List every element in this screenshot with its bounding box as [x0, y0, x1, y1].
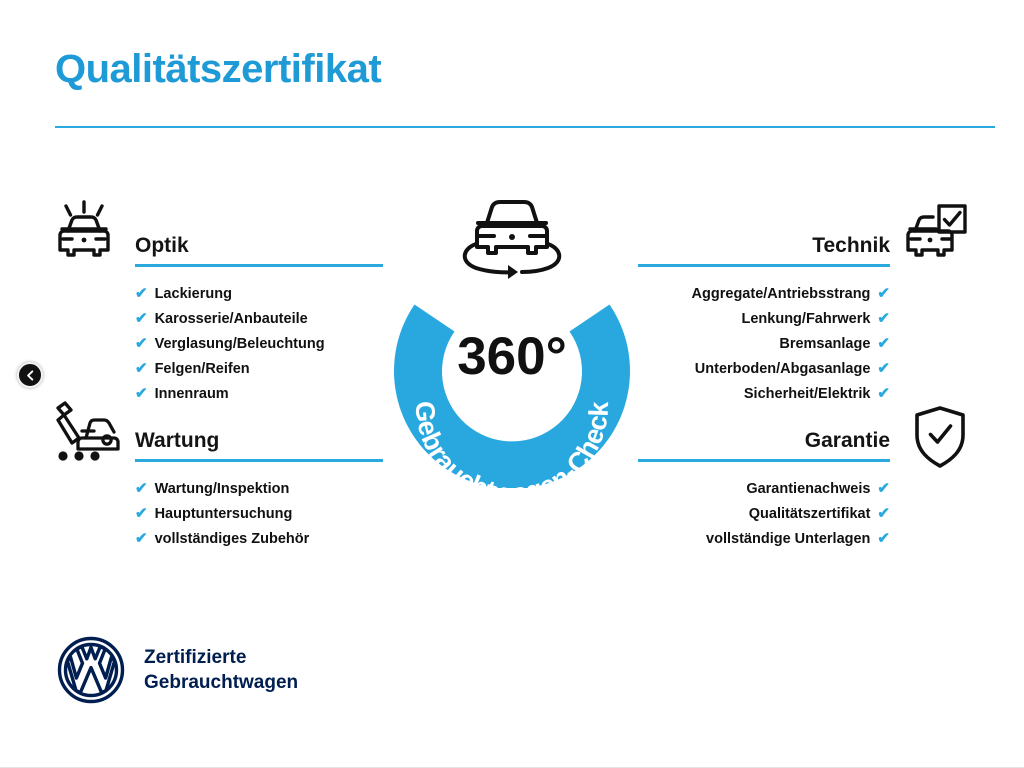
check-icon: ✔ [877, 506, 890, 521]
section-title-wartung: Wartung [135, 428, 383, 454]
footer-text: Zertifizierte Gebrauchtwagen [144, 645, 298, 695]
check-icon: ✔ [135, 531, 148, 546]
section-rule-garantie [638, 459, 890, 462]
section-title-optik: Optik [135, 233, 383, 259]
check-icon: ✔ [877, 481, 890, 496]
check-item-label: Lenkung/Fahrwerk [742, 311, 871, 327]
check-item-label: Qualitätszertifikat [749, 506, 871, 522]
list-item: Bremsanlage✔ [638, 331, 890, 356]
volkswagen-logo-icon [57, 636, 125, 704]
check-item-label: Innenraum [155, 386, 229, 402]
check-icon: ✔ [135, 386, 148, 401]
title-divider [55, 126, 995, 128]
list-item: Unterboden/Abgasanlage✔ [638, 356, 890, 381]
check-item-label: Bremsanlage [779, 336, 870, 352]
section-rule-optik [135, 264, 383, 267]
check-icon: ✔ [877, 531, 890, 546]
check-list-garantie: Garantienachweis✔Qualitätszertifikat✔vol… [638, 476, 890, 551]
car-service-tool-icon [44, 398, 124, 475]
section-title-garantie: Garantie [638, 428, 890, 454]
check-list-optik: ✔Lackierung✔Karosserie/Anbauteile✔Vergla… [135, 281, 383, 406]
check-icon: ✔ [877, 336, 890, 351]
car-checkbox-icon [903, 198, 969, 275]
check-icon: ✔ [877, 286, 890, 301]
page-title: Qualitätszertifikat [55, 47, 381, 92]
check-icon: ✔ [877, 386, 890, 401]
list-item: ✔Wartung/Inspektion [135, 476, 383, 501]
section-wartung: Wartung✔Wartung/Inspektion✔Hauptuntersuc… [135, 428, 383, 551]
check-item-label: Lackierung [155, 286, 232, 302]
list-item: ✔Lackierung [135, 281, 383, 306]
footer-line-1: Zertifizierte [144, 645, 298, 670]
footer-brand: Zertifizierte Gebrauchtwagen [57, 636, 298, 704]
section-header-wartung: Wartung [135, 428, 383, 462]
chevron-left-icon [25, 370, 36, 381]
section-header-optik: Optik [135, 233, 383, 267]
check-item-label: Sicherheit/Elektrik [744, 386, 871, 402]
check-icon: ✔ [135, 311, 148, 326]
check-item-label: Wartung/Inspektion [155, 481, 290, 497]
section-header-garantie: Garantie [638, 428, 890, 462]
check-item-label: Verglasung/Beleuchtung [155, 336, 325, 352]
list-item: ✔vollständiges Zubehör [135, 526, 383, 551]
footer-line-2: Gebrauchtwagen [144, 670, 298, 695]
check-list-technik: Aggregate/Antriebsstrang✔Lenkung/Fahrwer… [638, 281, 890, 406]
section-technik: TechnikAggregate/Antriebsstrang✔Lenkung/… [638, 233, 890, 406]
prev-image-button[interactable] [17, 362, 43, 388]
section-optik: Optik✔Lackierung✔Karosserie/Anbauteile✔V… [135, 233, 383, 406]
check-list-wartung: ✔Wartung/Inspektion✔Hauptuntersuchung✔vo… [135, 476, 383, 551]
section-title-technik: Technik [638, 233, 890, 259]
list-item: ✔Felgen/Reifen [135, 356, 383, 381]
list-item: Sicherheit/Elektrik✔ [638, 381, 890, 406]
check-item-label: vollständiges Zubehör [155, 531, 310, 547]
check-item-label: Unterboden/Abgasanlage [695, 361, 871, 377]
car-shine-icon [48, 198, 120, 275]
check-item-label: Felgen/Reifen [155, 361, 250, 377]
list-item: ✔Verglasung/Beleuchtung [135, 331, 383, 356]
section-rule-wartung [135, 459, 383, 462]
shield-check-icon [912, 404, 968, 475]
certificate-page: Qualitätszertifikat [0, 0, 1024, 768]
check-icon: ✔ [135, 286, 148, 301]
check-item-label: vollständige Unterlagen [706, 531, 870, 547]
list-item: Garantienachweis✔ [638, 476, 890, 501]
check-item-label: Garantienachweis [746, 481, 870, 497]
check-item-label: Hauptuntersuchung [155, 506, 293, 522]
check-icon: ✔ [135, 481, 148, 496]
list-item: ✔Hauptuntersuchung [135, 501, 383, 526]
section-garantie: GarantieGarantienachweis✔Qualitätszertif… [638, 428, 890, 551]
list-item: ✔Karosserie/Anbauteile [135, 306, 383, 331]
check-icon: ✔ [135, 506, 148, 521]
section-header-technik: Technik [638, 233, 890, 267]
check-item-label: Karosserie/Anbauteile [155, 311, 308, 327]
list-item: Lenkung/Fahrwerk✔ [638, 306, 890, 331]
check-item-label: Aggregate/Antriebsstrang [692, 286, 871, 302]
list-item: vollständige Unterlagen✔ [638, 526, 890, 551]
check-icon: ✔ [135, 336, 148, 351]
check-icon: ✔ [877, 311, 890, 326]
check-icon: ✔ [135, 361, 148, 376]
car-rotate-360-icon [448, 192, 576, 282]
check-icon: ✔ [877, 361, 890, 376]
list-item: ✔Innenraum [135, 381, 383, 406]
badge-value: 360° [457, 327, 567, 386]
section-rule-technik [638, 264, 890, 267]
list-item: Aggregate/Antriebsstrang✔ [638, 281, 890, 306]
list-item: Qualitätszertifikat✔ [638, 501, 890, 526]
